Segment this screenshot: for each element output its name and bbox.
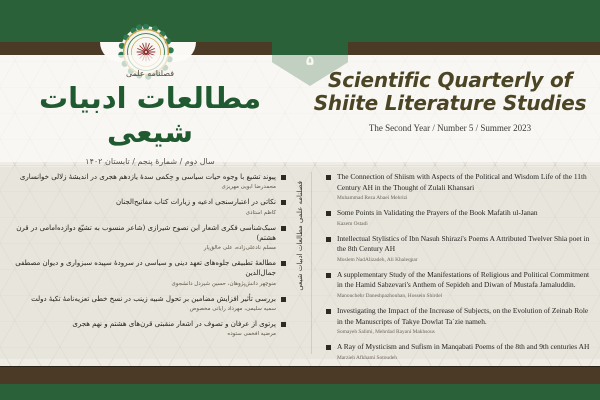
article-title: مطالعهٔ تطبیقی جلوه‌های تعهد دینی و سیاس… bbox=[8, 258, 276, 278]
bullet-icon bbox=[281, 226, 286, 231]
article-authors: Manouchehr Daneshpazhouhan, Hossein Shir… bbox=[337, 292, 594, 300]
list-item[interactable]: Some Points in Validating the Prayers of… bbox=[326, 208, 594, 228]
article-title: A supplementary Study of the Manifestati… bbox=[337, 270, 594, 291]
article-title: Some Points in Validating the Prayers of… bbox=[337, 208, 594, 219]
bullet-icon bbox=[326, 345, 331, 350]
bullet-icon bbox=[281, 261, 286, 266]
article-title: نکاتی در اعتبارسنجی ادعیه و زیارات کتاب … bbox=[8, 197, 276, 207]
article-title: Intellectual Stylistics of Ibn Nasuh Shi… bbox=[337, 234, 594, 255]
article-title: پیوند تشیع با وجوه حیات سیاسی و حِکمی سد… bbox=[8, 172, 276, 182]
bullet-icon bbox=[326, 211, 331, 216]
list-item[interactable]: پرتوی از عرفان و تصوف در اشعار منقبتی قر… bbox=[8, 319, 286, 338]
article-authors: سمیه سلیمی، مهرداد رایانی مخصوص bbox=[8, 305, 276, 313]
article-authors: محمدرضا ابویی مهریزی bbox=[8, 183, 276, 191]
bullet-icon bbox=[281, 175, 286, 180]
bullet-icon bbox=[281, 297, 286, 302]
article-authors: مسلم نادعلی‌زاده، علی خالق‌پار bbox=[8, 244, 276, 252]
article-title: Investigating the Impact of the Increase… bbox=[337, 306, 594, 327]
diagonal-stripe-decoration bbox=[0, 0, 20, 42]
article-authors: Somayeh Salimi, Mehrdad Rayani Makhsous bbox=[337, 328, 594, 336]
article-authors: منوچهر دانش‌پژوهان، حسین شیردل دانشجوی bbox=[8, 280, 276, 288]
bullet-icon bbox=[281, 322, 286, 327]
masthead: فصلنامه علمی مطالعات ادبیات شیعی سال دوم… bbox=[0, 55, 600, 162]
english-journal-title: Scientific Quarterly of Shiite Literatur… bbox=[300, 69, 600, 115]
bullet-icon bbox=[326, 175, 331, 180]
bullet-icon bbox=[281, 200, 286, 205]
list-item[interactable]: A supplementary Study of the Manifestati… bbox=[326, 270, 594, 300]
footer-green-band bbox=[0, 384, 600, 400]
bullet-icon bbox=[326, 309, 331, 314]
english-issue-line: The Second Year / Number 5 / Summer 2023 bbox=[300, 123, 600, 133]
english-masthead: Scientific Quarterly of Shiite Literatur… bbox=[300, 55, 600, 162]
article-title: The Connection of Shiism with Aspects of… bbox=[337, 172, 594, 193]
article-authors: Marzieh Afkhami Sotoudeh bbox=[337, 354, 594, 362]
bullet-icon bbox=[326, 237, 331, 242]
article-title: سبک‌شناسی فکری اشعار ابن نصوح شیرازی (شا… bbox=[8, 223, 276, 243]
list-item[interactable]: مطالعهٔ تطبیقی جلوه‌های تعهد دینی و سیاس… bbox=[8, 258, 286, 288]
header-green-band bbox=[0, 0, 600, 42]
article-authors: Moslem NadAlizadeh, Ali Khaleqpar bbox=[337, 256, 594, 264]
article-authors: Kazem Ostadi bbox=[337, 220, 594, 228]
diagonal-stripe-decoration bbox=[580, 0, 600, 42]
journal-cover: ۵ فصلنامه علمی مطالعات ادبیات شیعی سال د… bbox=[0, 0, 600, 400]
article-authors: کاظم استادی bbox=[8, 209, 276, 217]
article-authors: مرضیه افخمی ستوده bbox=[8, 330, 276, 338]
diagonal-stripe-decoration bbox=[0, 0, 10, 42]
english-title-line-2: Shiite Literature Studies bbox=[300, 92, 600, 115]
english-title-line-1: Scientific Quarterly of bbox=[300, 69, 600, 92]
spine-label: فصلنامه علمی مطالعات ادبیات شیعی bbox=[292, 176, 308, 296]
article-title: بررسی تأثیر افزایش مضامین بر تحول شبیه ز… bbox=[8, 294, 276, 304]
persian-masthead: فصلنامه علمی مطالعات ادبیات شیعی سال دوم… bbox=[0, 55, 300, 162]
spine-label-text: فصلنامه علمی مطالعات ادبیات شیعی bbox=[296, 181, 304, 291]
bullet-icon bbox=[326, 273, 331, 278]
article-title: A Ray of Mysticism and Sufism in Manqaba… bbox=[337, 342, 594, 353]
persian-issue-line: سال دوم / شمارهٔ پنجم / تابستان ۱۴۰۲ bbox=[0, 157, 300, 166]
list-item[interactable]: A Ray of Mysticism and Sufism in Manqaba… bbox=[326, 342, 594, 362]
persian-article-list: پیوند تشیع با وجوه حیات سیاسی و حِکمی سد… bbox=[8, 172, 286, 345]
article-authors: Muhammad Reza Abaei Mehrizi bbox=[337, 194, 594, 202]
list-item[interactable]: پیوند تشیع با وجوه حیات سیاسی و حِکمی سد… bbox=[8, 172, 286, 191]
article-title: پرتوی از عرفان و تصوف در اشعار منقبتی قر… bbox=[8, 319, 276, 329]
persian-kicker: فصلنامه علمی bbox=[0, 69, 300, 78]
list-item[interactable]: سبک‌شناسی فکری اشعار ابن نصوح شیرازی (شا… bbox=[8, 223, 286, 253]
list-item[interactable]: Intellectual Stylistics of Ibn Nasuh Shi… bbox=[326, 234, 594, 264]
list-item[interactable]: Investigating the Impact of the Increase… bbox=[326, 306, 594, 336]
persian-journal-title: مطالعات ادبیات شیعی bbox=[0, 81, 300, 149]
english-article-list: The Connection of Shiism with Aspects of… bbox=[326, 172, 594, 368]
column-divider bbox=[311, 172, 312, 354]
list-item[interactable]: The Connection of Shiism with Aspects of… bbox=[326, 172, 594, 202]
footer-brown-band bbox=[0, 367, 600, 384]
list-item[interactable]: نکاتی در اعتبارسنجی ادعیه و زیارات کتاب … bbox=[8, 197, 286, 216]
list-item[interactable]: بررسی تأثیر افزایش مضامین بر تحول شبیه ز… bbox=[8, 294, 286, 313]
diagonal-stripe-decoration bbox=[590, 0, 600, 42]
